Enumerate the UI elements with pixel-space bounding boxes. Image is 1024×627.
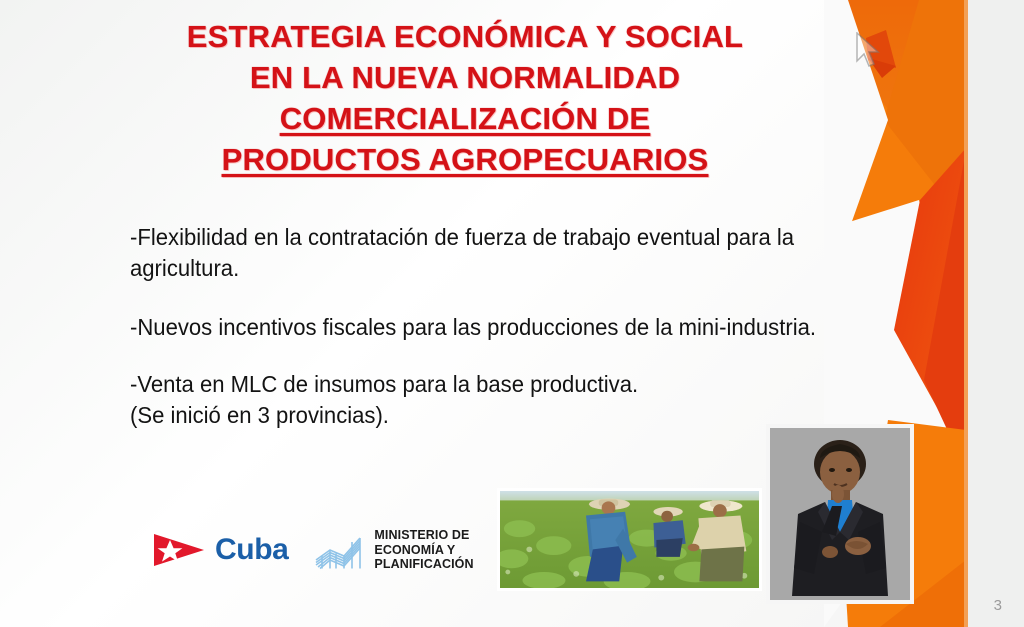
- bullet-paragraph-3: -Venta en MLC de insumos para la base pr…: [130, 369, 856, 431]
- ministry-line-1: MINISTERIO DE: [374, 528, 473, 543]
- ministry-logo: MINISTERIO DE ECONOMÍA Y PLANIFICACIÓN: [314, 528, 473, 572]
- title-line-3: COMERCIALIZACIÓN DE: [0, 98, 930, 139]
- ministry-line-3: PLANIFICACIÓN: [374, 557, 473, 572]
- bullet-paragraph-1: -Flexibilidad en la contratación de fuer…: [130, 222, 856, 284]
- presentation-slide: ESTRATEGIA ECONÓMICA Y SOCIAL EN LA NUEV…: [0, 0, 1024, 627]
- ministry-building-lines-icon: [314, 530, 366, 570]
- title-line-1: ESTRATEGIA ECONÓMICA Y SOCIAL: [0, 16, 930, 57]
- ministry-wordmark: MINISTERIO DE ECONOMÍA Y PLANIFICACIÓN: [374, 528, 473, 572]
- cuba-wordmark: Cuba: [215, 535, 288, 565]
- sign-language-interpreter-inset: [766, 424, 914, 604]
- slide-title: ESTRATEGIA ECONÓMICA Y SOCIAL EN LA NUEV…: [0, 16, 930, 180]
- title-line-2: EN LA NUEVA NORMALIDAD: [0, 57, 930, 98]
- page-number: 3: [994, 598, 1002, 613]
- ministry-line-2: ECONOMÍA Y: [374, 543, 473, 558]
- cuba-logo: Cuba: [152, 531, 288, 569]
- logo-row: Cuba MINISTERIO DE: [152, 528, 474, 572]
- cuba-flag-triangle-star-icon: [152, 531, 208, 569]
- bullet-paragraph-3-line-2: (Se inició en 3 provincias).: [130, 402, 389, 428]
- bullet-paragraph-3-line-1: -Venta en MLC de insumos para la base pr…: [130, 371, 638, 397]
- farm-workers-photo: [497, 488, 762, 591]
- title-line-4: PRODUCTOS AGROPECUARIOS: [0, 139, 930, 180]
- bullet-paragraph-2: -Nuevos incentivos fiscales para las pro…: [130, 312, 856, 343]
- slide-body: -Flexibilidad en la contratación de fuer…: [130, 222, 886, 431]
